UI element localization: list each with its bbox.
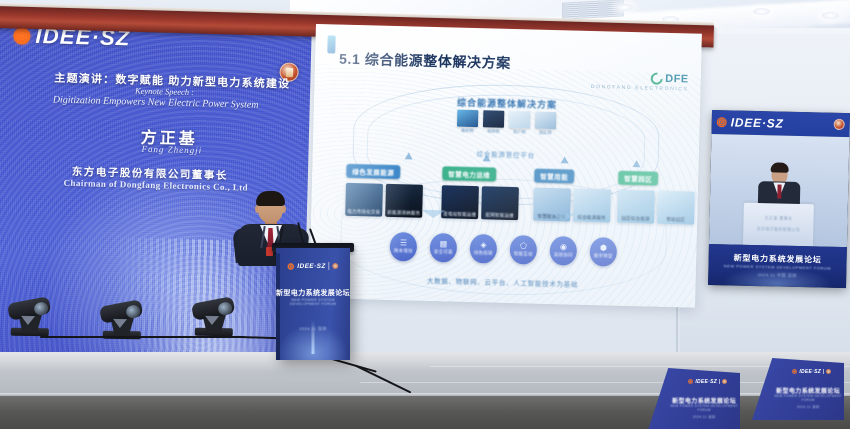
column-chip: 绿色发展能源: [346, 164, 400, 179]
benefit-label: 安全可靠: [434, 249, 453, 255]
light-beam-notch: [113, 319, 127, 328]
benefit-label: 智能互动: [514, 251, 533, 257]
keynote-topic-en-line1: Keynote Speech :: [135, 86, 194, 98]
benefit-icon: ⬢: [600, 244, 607, 252]
feed-podium-text-1: 方正基 董事长: [743, 215, 813, 223]
benefit-circle: ⬢ 数字转型: [589, 237, 617, 267]
conference-stage-photo: IDEE·SZ 主题演讲：数字赋能 助力新型电力系统建设 Keynote Spe…: [0, 0, 850, 429]
benefit-icon: ◉: [560, 243, 567, 251]
benefit-label: 数字转型: [594, 253, 613, 259]
feed-speaker-hair: [771, 162, 789, 172]
downlight-icon: [753, 8, 770, 15]
air-vent-icon: [562, 0, 624, 20]
orange-dotted-circle-icon: [717, 117, 727, 127]
circular-emblem-icon: [826, 369, 831, 374]
card-label: 电力市场化交易: [345, 209, 382, 216]
card-thumb: 配网智能运维: [481, 186, 519, 220]
tent-brand-logo: IDEE·SZ: [792, 369, 831, 375]
feed-podium-text-2: 东方电子股份有限公司: [743, 226, 813, 234]
thumb-icon: [483, 110, 504, 128]
diagram-header: 综合能源整体解决方案: [457, 96, 557, 112]
card-thumb: 园区综合能源: [617, 190, 655, 224]
tent-brand-logo: IDEE·SZ: [688, 379, 727, 385]
tent-subtitle: NEW POWER SYSTEM DEVELOPMENT FORUM: [668, 404, 740, 412]
orange-dotted-circle-icon: [792, 369, 797, 374]
moving-head-light: [192, 300, 237, 339]
benefit-circle: ◈ 绿色低碳: [470, 234, 498, 264]
center-projection-screen: 5.1 综合能源整体解决方案 DFE DONGFANG ELECTRONICS …: [309, 24, 702, 308]
column-chip: 智慧园区: [618, 171, 658, 186]
card-thumb: 零碳园区: [657, 191, 695, 225]
up-arrow-icon: [483, 154, 491, 161]
tent-card-content: IDEE·SZ 新型电力系统发展论坛 NEW POWER SYSTEM DEVE…: [668, 372, 740, 429]
benefit-label: 降本增效: [394, 248, 413, 254]
podium-subtitle: NEW POWER SYSTEM DEVELOPMENT FORUM: [276, 298, 350, 306]
up-arrow-icon: [561, 156, 569, 163]
thumb-group: 电网侧: [483, 110, 505, 135]
thumb-icon: [457, 110, 478, 128]
podium-glow: [278, 324, 348, 360]
column-cards: 电力市场化交易 新能源消纳服务: [345, 183, 423, 218]
circular-emblem-icon: [834, 119, 845, 130]
podium: IDEE·SZ 新型电力系统发展论坛 NEW POWER SYSTEM DEVE…: [276, 248, 350, 360]
solution-diagram: 综合能源整体解决方案 政府侧 电网侧 用户侧 园区侧: [309, 24, 702, 308]
benefit-circle: ☰ 降本增效: [390, 232, 418, 262]
feed-speaker-tie: [777, 185, 781, 199]
tent-brand-wordmark: IDEE·SZ: [695, 379, 717, 385]
down-arrow-icon: [421, 210, 445, 219]
live-camera-feed: 方正基 董事长 东方电子股份有限公司: [709, 134, 849, 247]
benefit-label: 高效协同: [554, 252, 573, 258]
diagram-column: 绿色发展能源 电力市场化交易 新能源消纳服务: [345, 161, 423, 218]
thumb-label: 用户侧: [509, 129, 530, 136]
card-label: 配网智能运维: [481, 212, 518, 219]
light-beam-notch: [21, 316, 35, 325]
thumb-group: 政府侧: [457, 110, 479, 135]
right-screen-banner: 新型电力系统发展论坛 NEW POWER SYSTEM DEVELOPMENT …: [708, 244, 847, 288]
diagram-column: 智慧电力运维 变电站智能运维 配网智能运维: [441, 163, 519, 220]
column-cards: 园区综合能源 零碳园区: [617, 190, 695, 225]
card-thumb: 电力市场化交易: [345, 183, 383, 217]
table-tent-card: IDEE·SZ 新型电力系统发展论坛 NEW POWER SYSTEM DEVE…: [648, 368, 740, 429]
light-beam-notch: [205, 316, 219, 325]
divider: [719, 379, 720, 384]
column-cards: 变电站智能运维 配网智能运维: [441, 185, 519, 220]
thumb-icon: [509, 111, 530, 129]
thumb-icon: [535, 112, 556, 130]
tent-date: 2024.11 深圳: [668, 414, 740, 419]
right-screen-brand: IDEE·SZ: [731, 115, 784, 130]
diagram-column: 智慧园区 园区综合能源 零碳园区: [617, 168, 695, 225]
keynote-topic-en-line2: Digitization Empowers New Electric Power…: [53, 94, 259, 110]
speaker-name-en: Fang Zhengji: [141, 144, 202, 156]
circular-emblem-icon: [722, 379, 727, 384]
up-arrow-icon: [632, 160, 640, 167]
downlight-icon: [822, 12, 839, 19]
tent-brand-wordmark: IDEE·SZ: [799, 369, 821, 375]
orange-dotted-circle-icon: [688, 379, 693, 384]
podium-brand-wordmark: IDEE·SZ: [297, 263, 325, 270]
diagram-top-thumbnails: 政府侧 电网侧 用户侧 园区侧: [457, 110, 557, 136]
circular-emblem-icon: [333, 263, 339, 269]
right-video-screen: IDEE·SZ 方正基 董事长 东方电子股份有限公司 新型电力系统发展论坛 N: [708, 110, 850, 288]
column-chip: 智慧用能: [534, 169, 574, 184]
card-label: 新能源消纳服务: [385, 210, 422, 217]
thumb-label: 电网侧: [483, 128, 504, 135]
card-thumb: 综合能源服务: [573, 189, 611, 223]
table-tent-card: IDEE·SZ 新型电力系统发展论坛 NEW POWER SYSTEM DEVE…: [752, 358, 844, 420]
tent-subtitle: NEW POWER SYSTEM DEVELOPMENT FORUM: [772, 394, 844, 402]
speaker-hair: [256, 191, 285, 206]
column-chip: 智慧电力运维: [442, 166, 496, 181]
benefit-icon: ⬠: [520, 242, 527, 250]
moving-head-light: [8, 300, 53, 339]
benefit-icon: ◈: [480, 241, 486, 249]
benefit-label: 绿色低碳: [474, 250, 493, 256]
thumb-group: 用户侧: [509, 111, 531, 136]
card-label: 园区综合能源: [617, 216, 654, 223]
divider: [329, 262, 330, 270]
orange-dotted-circle-icon: [287, 263, 294, 270]
tent-date: 2024.11 深圳: [772, 404, 844, 409]
card-thumb: 变电站智能运维: [441, 185, 479, 219]
down-arrow-icon: [551, 213, 575, 222]
thumb-label: 政府侧: [457, 128, 478, 135]
divider: [823, 369, 824, 374]
orange-dotted-circle-icon: [13, 27, 30, 44]
thumb-label: 园区侧: [535, 130, 556, 137]
right-screen-header: IDEE·SZ: [711, 110, 850, 137]
thumb-group: 园区侧: [535, 112, 557, 137]
feed-podium: 方正基 董事长 东方电子股份有限公司: [743, 203, 814, 247]
card-label: 零碳园区: [657, 217, 694, 224]
diagram-benefit-circles: ☰ 降本增效 ▦ 安全可靠 ◈ 绿色低碳 ⬠ 智能互动 ◉ 高效协同: [390, 232, 618, 267]
benefit-circle: ⬠ 智能互动: [509, 235, 537, 265]
podium-brand-logo: IDEE·SZ: [287, 262, 338, 270]
benefit-circle: ▦ 安全可靠: [430, 233, 458, 263]
benefit-circle: ◉ 高效协同: [549, 236, 577, 266]
card-label: 综合能源服务: [573, 215, 610, 222]
benefit-icon: ▦: [440, 240, 448, 248]
benefit-icon: ☰: [400, 239, 407, 247]
card-thumb: 新能源消纳服务: [385, 184, 423, 218]
up-arrow-icon: [405, 152, 413, 159]
card-label: 变电站智能运维: [441, 211, 478, 218]
tent-card-content: IDEE·SZ 新型电力系统发展论坛 NEW POWER SYSTEM DEVE…: [772, 362, 844, 420]
downlight-icon: [616, 4, 633, 11]
stage-cable: [40, 336, 245, 338]
podium-title: 新型电力系统发展论坛: [276, 288, 350, 298]
